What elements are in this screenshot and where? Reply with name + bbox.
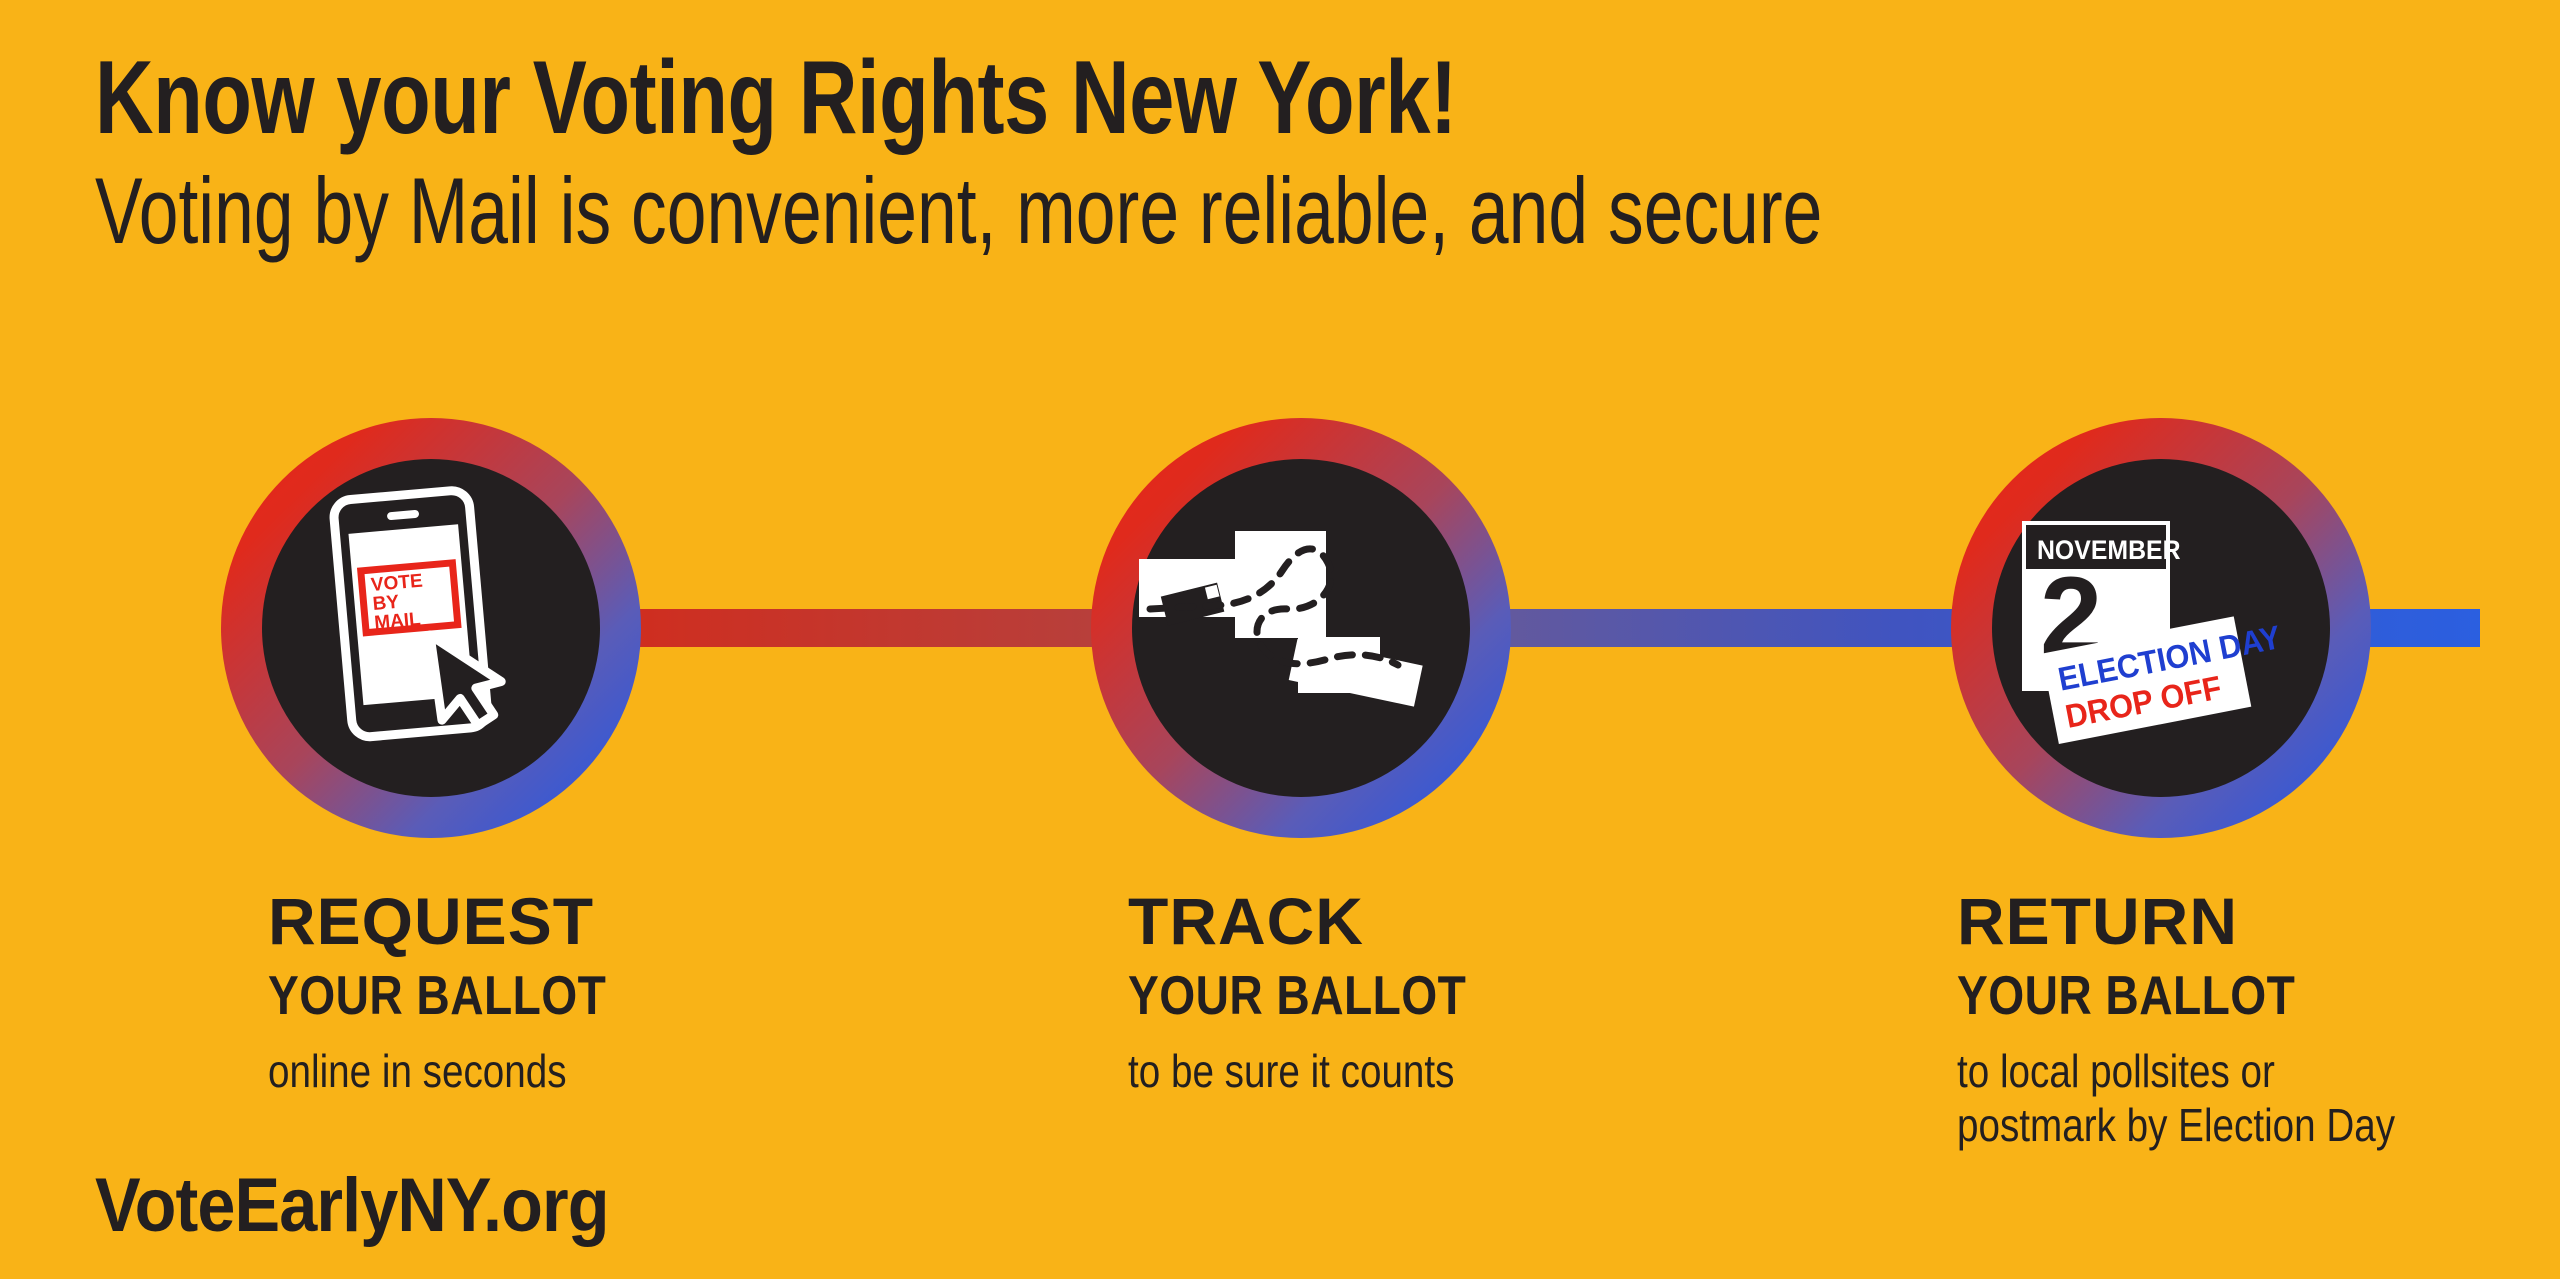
step-return[interactable]: NOVEMBER 2 ELECTION DAY DROP OFF <box>1951 418 2371 838</box>
phone-vote-by-mail-icon: VOTE BY MAIL <box>262 459 600 797</box>
step-request[interactable]: VOTE BY MAIL <box>221 418 641 838</box>
infographic-canvas: Know your Voting Rights New York! Voting… <box>0 0 2560 1279</box>
step-ring-request: VOTE BY MAIL <box>221 418 641 838</box>
envelope-tracking-path-icon <box>1132 459 1470 797</box>
calendar-drop-off-icon: NOVEMBER 2 ELECTION DAY DROP OFF <box>1992 459 2330 797</box>
step-track[interactable] <box>1091 418 1511 838</box>
svg-text:MAIL: MAIL <box>373 609 421 634</box>
steps-row: VOTE BY MAIL <box>0 0 2560 1279</box>
step-ring-track <box>1091 418 1511 838</box>
step-ring-return: NOVEMBER 2 ELECTION DAY DROP OFF <box>1951 418 2371 838</box>
